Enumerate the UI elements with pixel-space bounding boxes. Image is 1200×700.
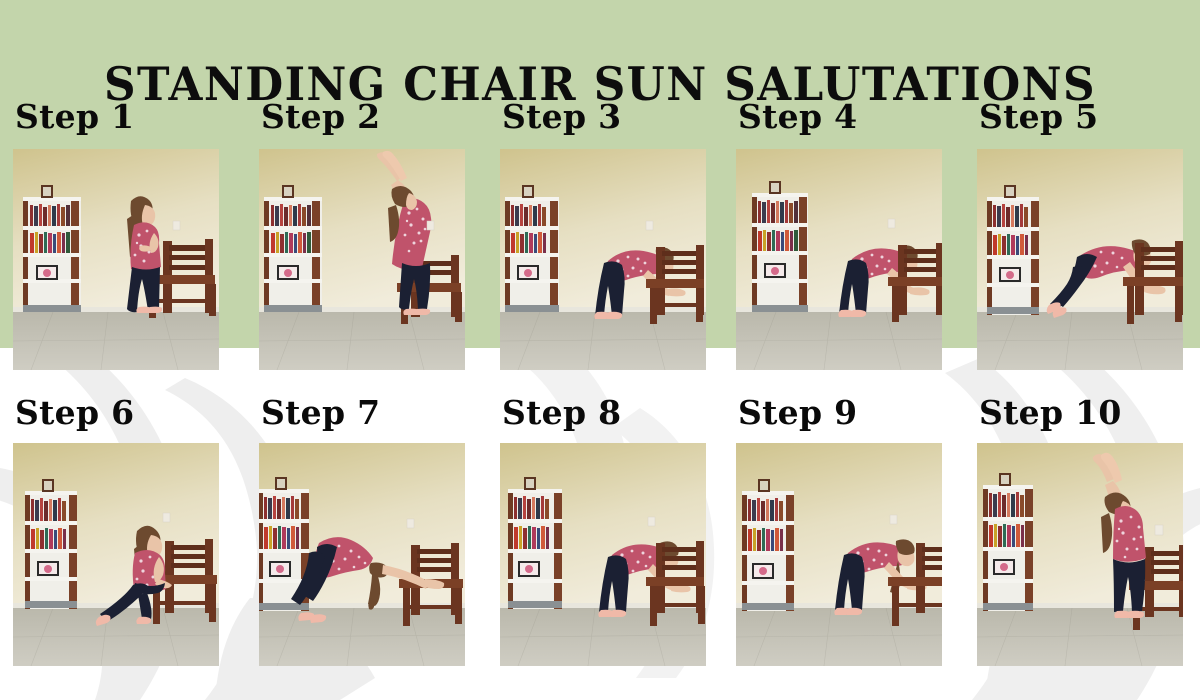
pose-illustration-forward-fold-return xyxy=(500,443,706,666)
step-label-6: Step 6 xyxy=(15,396,219,429)
pose-illustration-upward-salute xyxy=(259,149,465,370)
step-label-5: Step 5 xyxy=(979,100,1183,133)
step-card-7[interactable]: Step 7 xyxy=(259,396,465,666)
pose-illustration-upward-salute-final xyxy=(977,443,1183,666)
step-card-9[interactable]: Step 9 xyxy=(736,396,942,666)
poster-root: STANDING CHAIR SUN SALUTATIONS Step 1 xyxy=(0,0,1200,700)
step-photo-3[interactable] xyxy=(500,149,706,370)
pose-illustration-low-lunge xyxy=(13,443,219,666)
step-card-5[interactable]: Step 5 xyxy=(977,100,1183,370)
pose-illustration-mountain xyxy=(13,149,219,370)
step-photo-8[interactable] xyxy=(500,443,706,666)
step-label-8: Step 8 xyxy=(502,396,706,429)
step-card-6[interactable]: Step 6 xyxy=(13,396,219,666)
pose-illustration-half-lift-return xyxy=(736,443,942,666)
step-label-1: Step 1 xyxy=(15,100,219,133)
bookshelf xyxy=(23,185,81,312)
step-label-4: Step 4 xyxy=(738,100,942,133)
pose-illustration-forward-fold xyxy=(500,149,706,370)
steps-row-top: Step 1 xyxy=(0,100,1200,390)
step-card-8[interactable]: Step 8 xyxy=(500,396,706,666)
step-photo-9[interactable] xyxy=(736,443,942,666)
step-label-2: Step 2 xyxy=(261,100,465,133)
step-photo-7[interactable] xyxy=(259,443,465,666)
pose-illustration-plank xyxy=(977,149,1183,370)
pose-illustration-half-lift xyxy=(736,149,942,370)
step-label-3: Step 3 xyxy=(502,100,706,133)
step-card-1[interactable]: Step 1 xyxy=(13,100,219,370)
step-card-4[interactable]: Step 4 xyxy=(736,100,942,370)
step-label-7: Step 7 xyxy=(261,396,465,429)
steps-row-bottom: Step 6 xyxy=(0,396,1200,696)
step-photo-4[interactable] xyxy=(736,149,942,370)
step-photo-1[interactable] xyxy=(13,149,219,370)
step-card-3[interactable]: Step 3 xyxy=(500,100,706,370)
step-photo-10[interactable] xyxy=(977,443,1183,666)
step-card-10[interactable]: Step 10 xyxy=(977,396,1183,666)
step-card-2[interactable]: Step 2 xyxy=(259,100,465,370)
step-label-10: Step 10 xyxy=(979,396,1183,429)
step-photo-2[interactable] xyxy=(259,149,465,370)
step-photo-5[interactable] xyxy=(977,149,1183,370)
step-photo-6[interactable] xyxy=(13,443,219,666)
pose-illustration-downward-dog xyxy=(259,443,465,666)
step-label-9: Step 9 xyxy=(738,396,942,429)
